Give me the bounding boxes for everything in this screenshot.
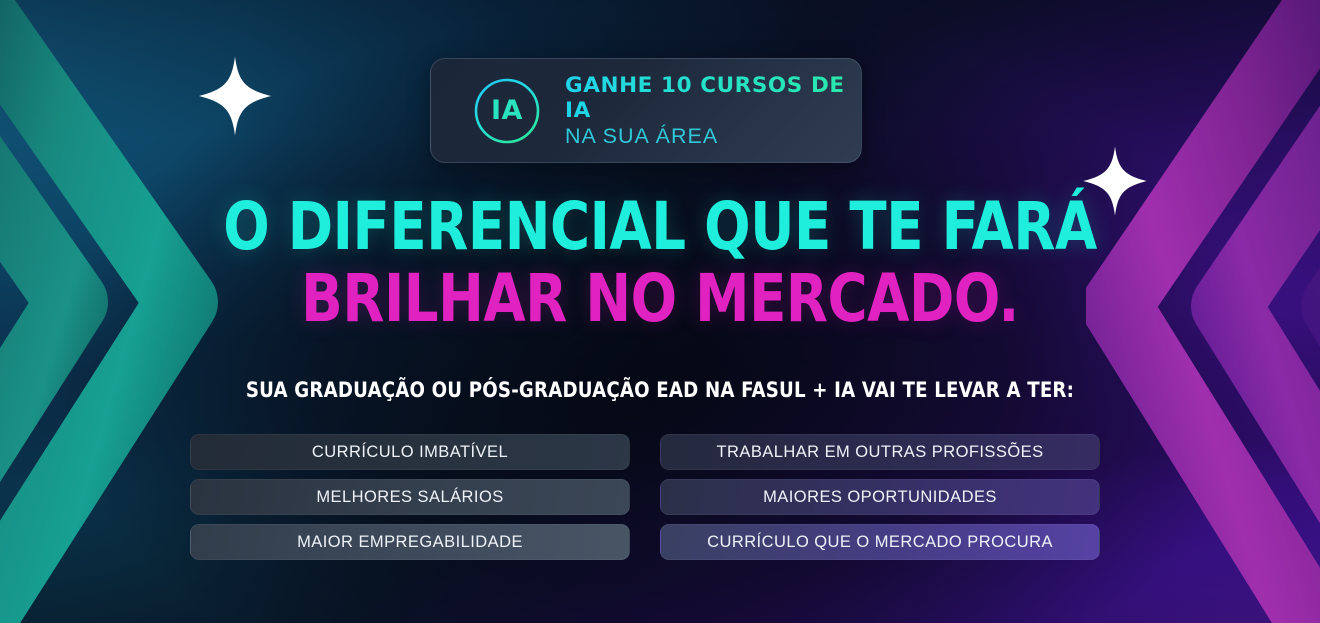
benefits-grid: CURRÍCULO IMBATÍVEL TRABALHAR EM OUTRAS …	[190, 434, 1100, 560]
benefit-pill-curriculo-imbativel[interactable]: CURRÍCULO IMBATÍVEL	[190, 434, 630, 470]
headline-line-1: O DIFERENCIAL QUE TE FARÁ	[53, 195, 1267, 258]
benefit-pill-maior-empregabilidade[interactable]: MAIOR EMPREGABILIDADE	[190, 524, 630, 560]
ai-courses-badge[interactable]: IA GANHE 10 CURSOS DE IA NA SUA ÁREA	[430, 58, 862, 163]
benefit-pill-trabalhar-outras-profissoes[interactable]: TRABALHAR EM OUTRAS PROFISSÕES	[660, 434, 1100, 470]
benefit-pill-maiores-oportunidades[interactable]: MAIORES OPORTUNIDADES	[660, 479, 1100, 515]
badge-line-2: NA SUA ÁREA	[565, 124, 861, 149]
banner-content: IA GANHE 10 CURSOS DE IA NA SUA ÁREA O D…	[0, 0, 1320, 623]
badge-text-block: GANHE 10 CURSOS DE IA NA SUA ÁREA	[565, 73, 861, 149]
badge-line-1: GANHE 10 CURSOS DE IA	[565, 73, 861, 123]
benefit-pill-melhores-salarios[interactable]: MELHORES SALÁRIOS	[190, 479, 630, 515]
ia-circle-logo: IA	[473, 77, 541, 145]
subtitle: SUA GRADUAÇÃO OU PÓS-GRADUAÇÃO EAD NA FA…	[40, 378, 1281, 403]
headline: O DIFERENCIAL QUE TE FARÁ BRILHAR NO MER…	[0, 195, 1320, 331]
benefit-pill-curriculo-mercado-procura[interactable]: CURRÍCULO QUE O MERCADO PROCURA	[660, 524, 1100, 560]
ia-logo-text: IA	[473, 77, 541, 145]
headline-line-2: BRILHAR NO MERCADO.	[53, 267, 1267, 330]
